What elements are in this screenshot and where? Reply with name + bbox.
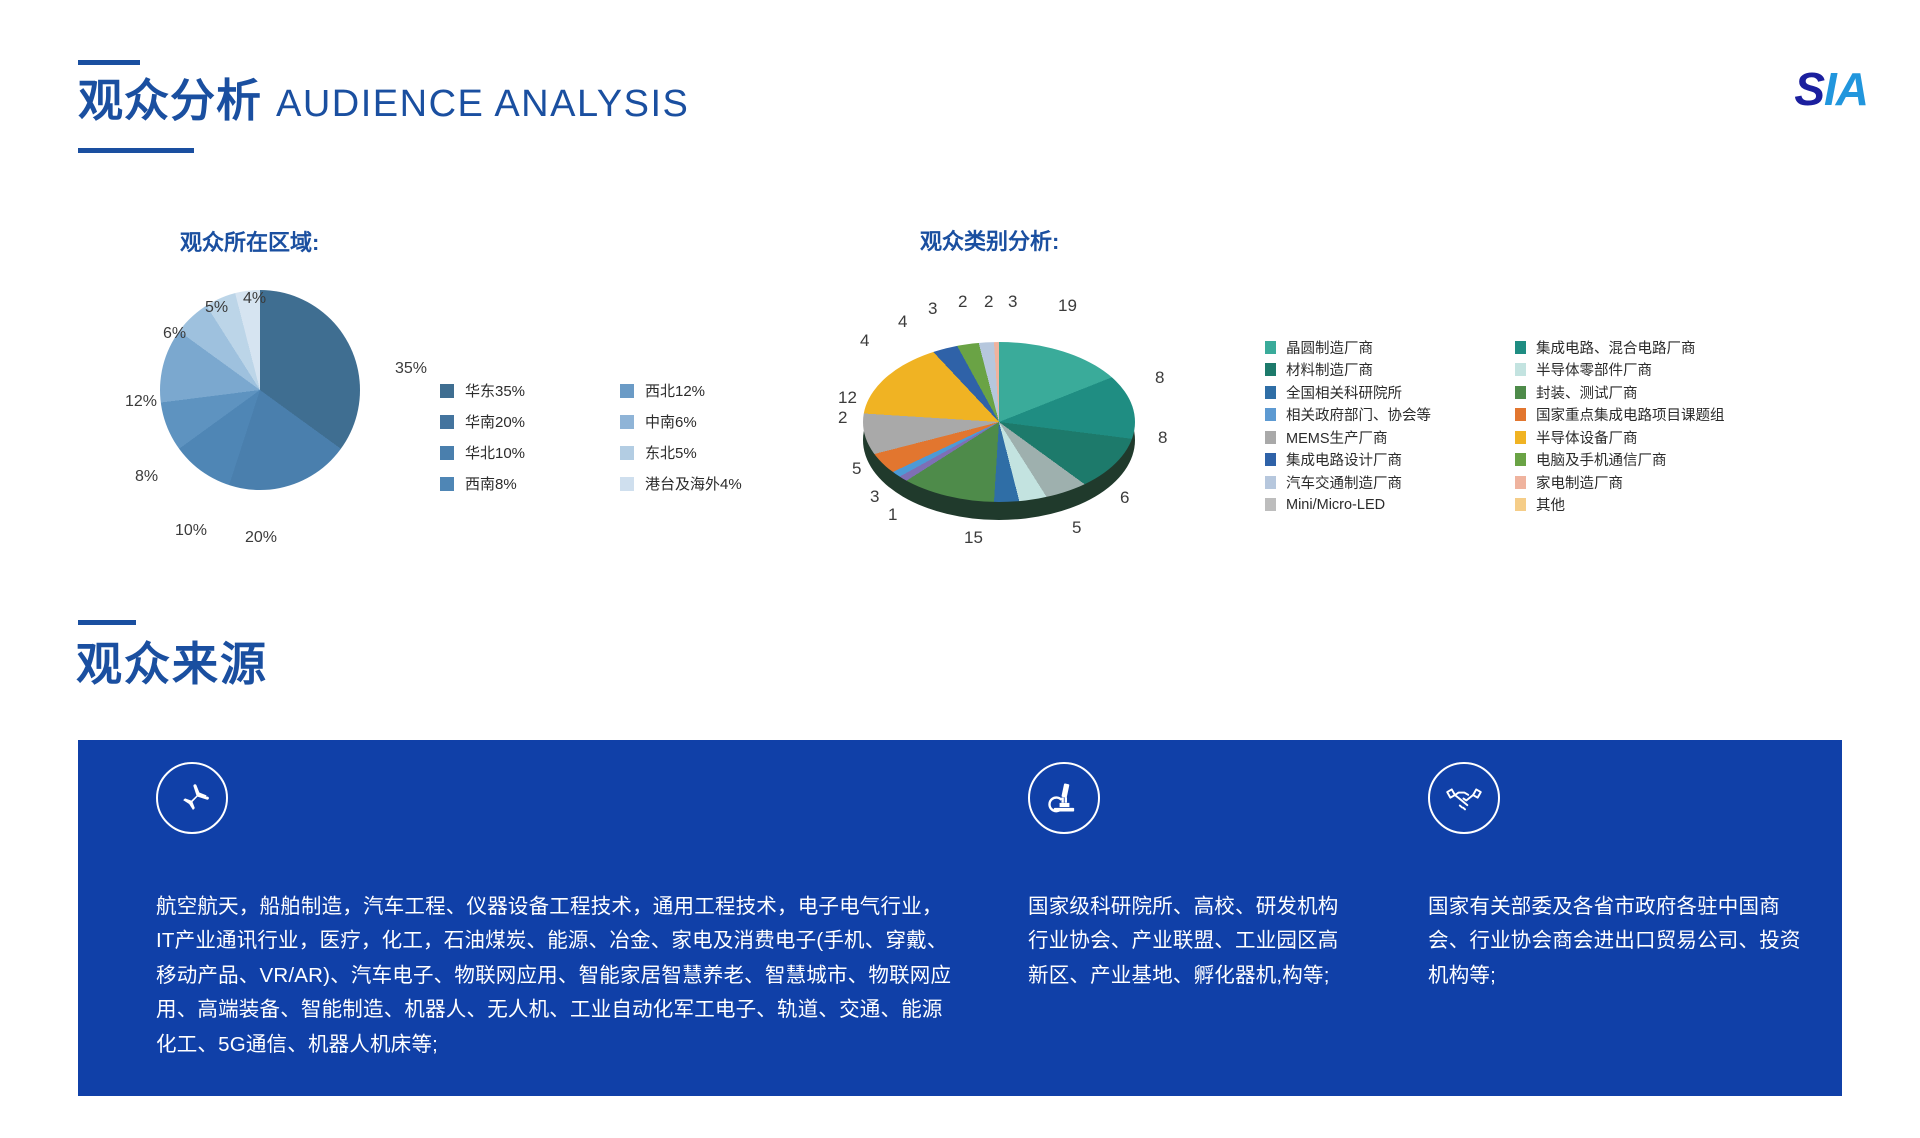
source-column-2: 国家级科研院所、高校、研发机构行业协会、产业联盟、工业园区高新区、产业基地、孵化… [1028, 740, 1358, 1096]
page-title-en: AUDIENCE ANALYSIS [276, 83, 689, 125]
region-legend-item[interactable]: 西北12% [620, 375, 742, 406]
legend-swatch-icon [1265, 386, 1276, 399]
legend-swatch-icon [620, 477, 634, 491]
legend-swatch-icon [620, 415, 634, 429]
legend-swatch-icon [1515, 386, 1526, 399]
source-text-1: 航空航天，船舶制造，汽车工程、仪器设备工程技术，通用工程技术，电子电气行业，IT… [156, 890, 956, 1062]
page-title-cn: 观众分析 [78, 75, 262, 126]
category-label-13: 3 [928, 299, 937, 319]
legend-swatch-icon [440, 446, 454, 460]
source-title: 观众来源 [76, 638, 268, 691]
region-legend-label: 华南20% [465, 411, 525, 432]
region-legend-item[interactable]: 华东35% [440, 375, 525, 406]
category-legend-item[interactable]: 全国相关科研院所 [1265, 381, 1431, 404]
category-label-12: 4 [898, 312, 907, 332]
source-rule [78, 620, 136, 625]
category-label-14: 2 [958, 292, 967, 312]
category-legend-label: 汽车交通制造厂商 [1286, 472, 1402, 493]
category-legend-label: 全国相关科研院所 [1286, 382, 1402, 403]
legend-swatch-icon [1265, 498, 1276, 511]
region-legend-item[interactable]: 西南8% [440, 468, 525, 499]
category-legend-item[interactable]: 集成电路、混合电路厂商 [1515, 336, 1725, 359]
region-pie-chart [160, 290, 360, 490]
region-legend-label: 中南6% [645, 411, 697, 432]
category-chart-title: 观众类别分析: [920, 224, 1059, 256]
category-legend-col1: 晶圆制造厂商材料制造厂商全国相关科研院所相关政府部门、协会等MEMS生产厂商集成… [1265, 336, 1431, 516]
region-legend-label: 西南8% [465, 473, 517, 494]
microscope-icon [1028, 762, 1100, 834]
region-legend-col1: 华东35%华南20%华北10%西南8% [440, 375, 525, 499]
category-legend-label: 其他 [1536, 494, 1565, 515]
category-legend-item[interactable]: 国家重点集成电路项目课题组 [1515, 404, 1725, 427]
region-label-zhongnan: 6% [163, 325, 186, 343]
category-legend-item[interactable]: 其他 [1515, 494, 1725, 517]
legend-swatch-icon [1515, 363, 1526, 376]
category-label-3: 6 [1120, 488, 1129, 508]
category-legend-item[interactable]: 材料制造厂商 [1265, 359, 1431, 382]
legend-swatch-icon [1265, 408, 1276, 421]
region-legend-col2: 西北12%中南6%东北5%港台及海外4% [620, 375, 742, 499]
region-label-dongbei: 5% [205, 299, 228, 317]
source-column-1: 航空航天，船舶制造，汽车工程、仪器设备工程技术，通用工程技术，电子电气行业，IT… [156, 740, 956, 1096]
region-legend-label: 东北5% [645, 442, 697, 463]
region-legend-item[interactable]: 华北10% [440, 437, 525, 468]
category-legend-label: Mini/Micro-LED [1286, 497, 1385, 513]
category-legend-col2: 集成电路、混合电路厂商半导体零部件厂商封装、测试厂商国家重点集成电路项目课题组半… [1515, 336, 1725, 516]
category-legend-label: 国家重点集成电路项目课题组 [1536, 404, 1725, 425]
category-label-6: 1 [888, 505, 897, 525]
category-legend-label: 电脑及手机通信厂商 [1536, 449, 1667, 470]
legend-swatch-icon [1265, 453, 1276, 466]
category-label-5: 15 [964, 528, 983, 548]
category-pie-chart [845, 300, 1155, 535]
category-legend-item[interactable]: 封装、测试厂商 [1515, 381, 1725, 404]
legend-swatch-icon [1265, 363, 1276, 376]
region-label-haiwai: 4% [243, 290, 266, 308]
category-pie-top [863, 342, 1135, 502]
legend-swatch-icon [1515, 431, 1526, 444]
region-label-huadong: 35% [395, 360, 427, 378]
region-legend-label: 华北10% [465, 442, 525, 463]
category-legend-label: 材料制造厂商 [1286, 359, 1373, 380]
slide-page: 观众分析AUDIENCE ANALYSIS SIA 观众所在区域: 35% 20… [0, 0, 1920, 1138]
logo-ia: IA [1824, 63, 1868, 115]
header-underline [78, 148, 194, 153]
category-legend-item[interactable]: 电脑及手机通信厂商 [1515, 449, 1725, 472]
category-label-11: 4 [860, 331, 869, 351]
legend-swatch-icon [1515, 408, 1526, 421]
region-legend-label: 港台及海外4% [645, 473, 742, 494]
legend-swatch-icon [1265, 341, 1276, 354]
category-legend-label: 集成电路设计厂商 [1286, 449, 1402, 470]
source-text-2: 国家级科研院所、高校、研发机构行业协会、产业联盟、工业园区高新区、产业基地、孵化… [1028, 890, 1358, 993]
legend-swatch-icon [440, 477, 454, 491]
source-panel: 航空航天，船舶制造，汽车工程、仪器设备工程技术，通用工程技术，电子电气行业，IT… [78, 740, 1842, 1096]
category-legend-label: 相关政府部门、协会等 [1286, 404, 1431, 425]
category-legend-item[interactable]: MEMS生产厂商 [1265, 426, 1431, 449]
legend-swatch-icon [1265, 431, 1276, 444]
region-label-xibei: 12% [125, 393, 157, 411]
region-label-xinan: 8% [135, 468, 158, 486]
category-label-15: 2 [984, 292, 993, 312]
category-label-0: 19 [1058, 296, 1077, 316]
category-legend-label: 半导体设备厂商 [1536, 427, 1638, 448]
region-legend-item[interactable]: 华南20% [440, 406, 525, 437]
airplane-icon [156, 762, 228, 834]
handshake-icon [1428, 762, 1500, 834]
region-pie-disc [160, 290, 360, 490]
category-legend-label: 家电制造厂商 [1536, 472, 1623, 493]
legend-swatch-icon [620, 446, 634, 460]
page-title: 观众分析AUDIENCE ANALYSIS [78, 78, 689, 123]
legend-swatch-icon [1265, 476, 1276, 489]
region-legend-item[interactable]: 港台及海外4% [620, 468, 742, 499]
category-label-10: 12 [838, 388, 857, 408]
logo-s: S [1794, 63, 1824, 115]
legend-swatch-icon [440, 384, 454, 398]
region-legend-label: 华东35% [465, 380, 525, 401]
header-top-rule [78, 60, 140, 65]
category-label-2: 8 [1158, 428, 1167, 448]
category-legend-item[interactable]: 家电制造厂商 [1515, 471, 1725, 494]
category-label-9: 2 [838, 408, 847, 428]
region-label-huabei: 10% [175, 522, 207, 540]
category-label-16: 3 [1008, 292, 1017, 312]
region-label-huanan: 20% [245, 529, 277, 547]
region-chart-title: 观众所在区域: [180, 225, 319, 257]
legend-swatch-icon [620, 384, 634, 398]
category-legend-item[interactable]: 半导体设备厂商 [1515, 426, 1725, 449]
category-legend-item[interactable]: Mini/Micro-LED [1265, 494, 1431, 517]
category-legend-item[interactable]: 汽车交通制造厂商 [1265, 471, 1431, 494]
category-legend-label: 集成电路、混合电路厂商 [1536, 337, 1696, 358]
category-label-7: 3 [870, 487, 879, 507]
category-label-4: 5 [1072, 518, 1081, 538]
region-legend-label: 西北12% [645, 380, 705, 401]
category-legend-label: MEMS生产厂商 [1286, 427, 1388, 448]
region-legend-item[interactable]: 中南6% [620, 406, 742, 437]
category-legend-item[interactable]: 半导体零部件厂商 [1515, 359, 1725, 382]
source-text-3: 国家有关部委及各省市政府各驻中国商会、行业协会商会进出口贸易公司、投资机构等; [1428, 890, 1808, 993]
category-label-1: 8 [1155, 368, 1164, 388]
legend-swatch-icon [440, 415, 454, 429]
region-legend-item[interactable]: 东北5% [620, 437, 742, 468]
category-legend-item[interactable]: 相关政府部门、协会等 [1265, 404, 1431, 427]
category-label-8: 5 [852, 459, 861, 479]
category-legend-label: 半导体零部件厂商 [1536, 359, 1652, 380]
category-legend-label: 晶圆制造厂商 [1286, 337, 1373, 358]
legend-swatch-icon [1515, 498, 1526, 511]
category-legend-item[interactable]: 集成电路设计厂商 [1265, 449, 1431, 472]
category-legend-label: 封装、测试厂商 [1536, 382, 1638, 403]
source-column-3: 国家有关部委及各省市政府各驻中国商会、行业协会商会进出口贸易公司、投资机构等; [1428, 740, 1808, 1096]
category-legend-item[interactable]: 晶圆制造厂商 [1265, 336, 1431, 359]
legend-swatch-icon [1515, 453, 1526, 466]
sia-logo: SIA [1794, 66, 1868, 112]
legend-swatch-icon [1515, 341, 1526, 354]
legend-swatch-icon [1515, 476, 1526, 489]
